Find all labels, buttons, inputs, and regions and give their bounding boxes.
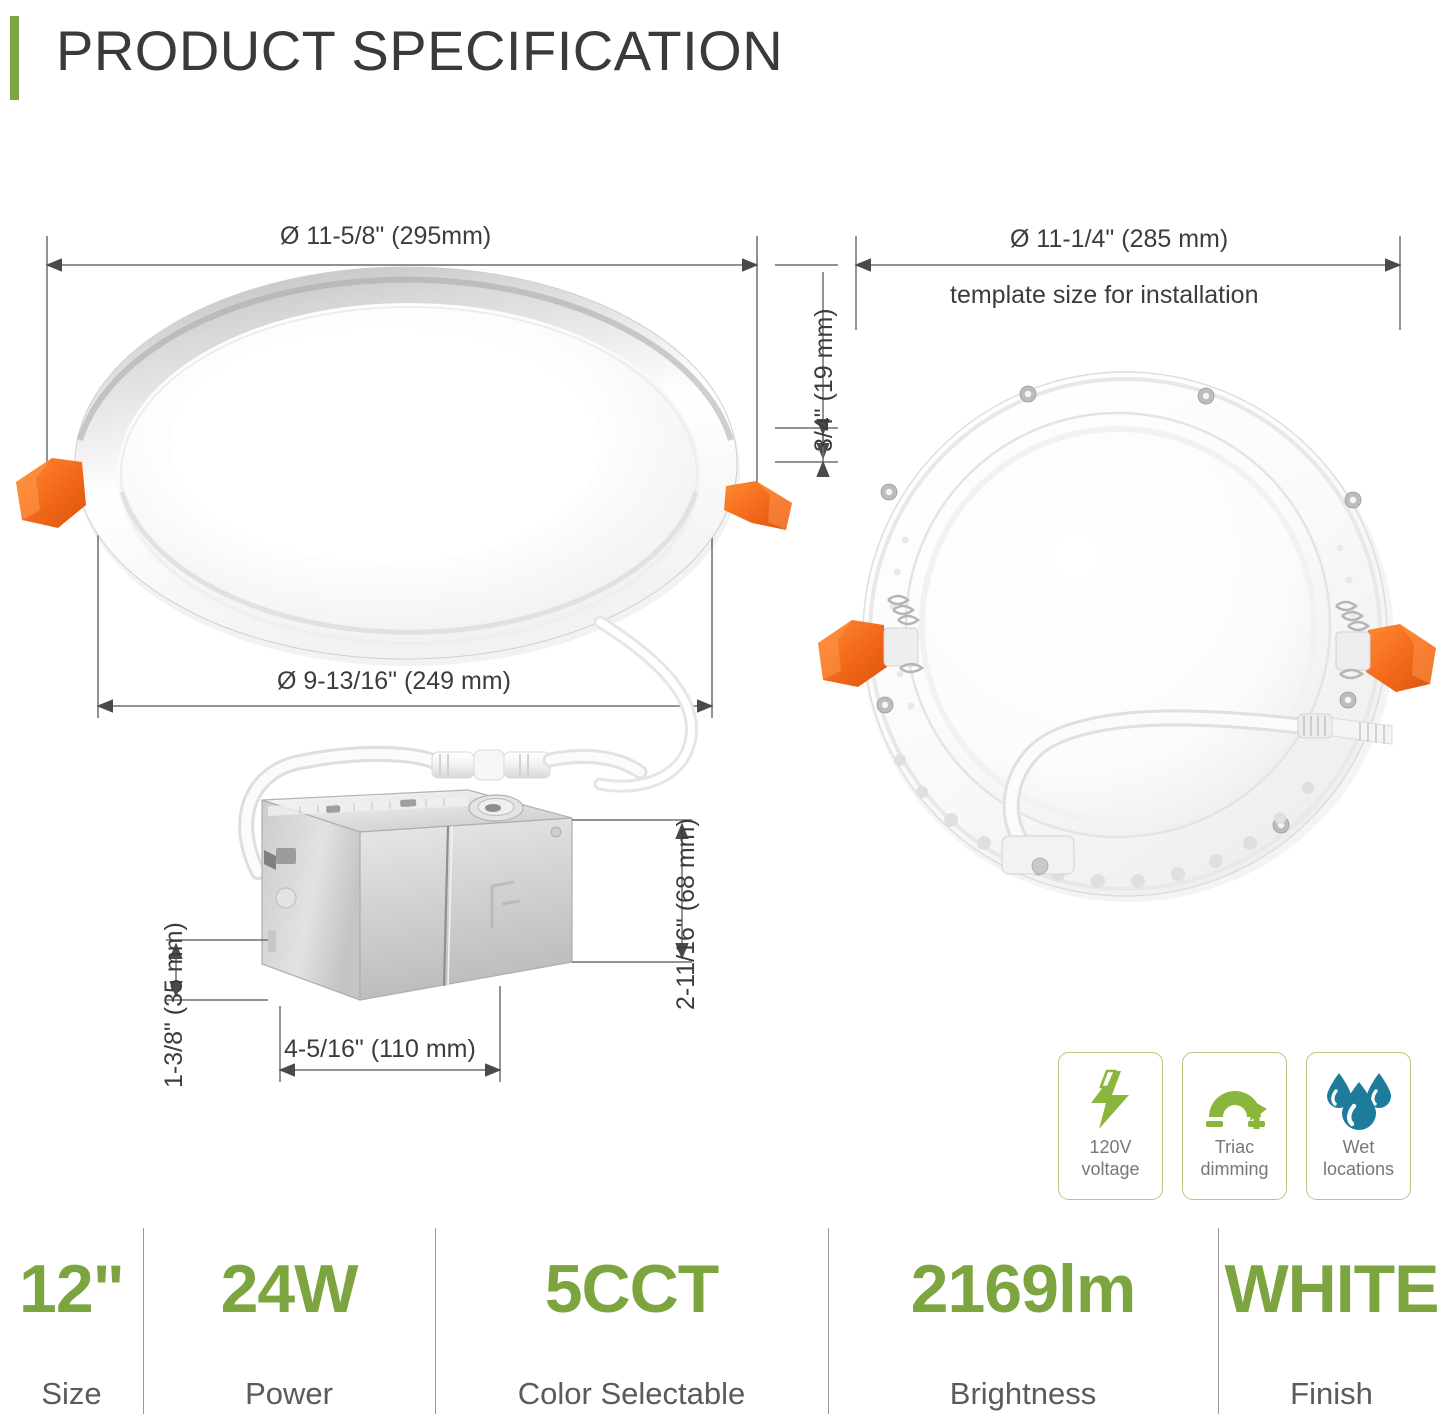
badge-wet-line1: Wet bbox=[1343, 1137, 1375, 1157]
feature-badges: 120V voltage Triac dimming bbox=[1058, 1052, 1411, 1200]
badge-wet-locations[interactable]: Wet locations bbox=[1306, 1052, 1411, 1200]
front-thickness-label: 3/4" (19 mm) bbox=[810, 308, 839, 452]
spec-power: 24W Power bbox=[143, 1238, 435, 1424]
badge-triac-line1: Triac bbox=[1215, 1137, 1254, 1157]
spec-summary-bar: 12" Size 24W Power 5CCT Color Selectable… bbox=[0, 1238, 1445, 1424]
badge-120v-label: 120V voltage bbox=[1081, 1137, 1139, 1181]
badge-120v-voltage[interactable]: 120V voltage bbox=[1058, 1052, 1163, 1200]
front-outer-diameter-label: Ø 11-5/8" (295mm) bbox=[280, 222, 491, 251]
badge-wet-label: Wet locations bbox=[1323, 1137, 1394, 1181]
spec-power-value: 24W bbox=[221, 1250, 358, 1328]
template-diameter-label: Ø 11-1/4" (285 mm) bbox=[1010, 225, 1228, 254]
spring-clip-right bbox=[724, 481, 792, 530]
junction-box-width-label: 4-5/16" (110 mm) bbox=[284, 1035, 476, 1064]
junction-box-height-label: 1-3/8" (35 mm) bbox=[160, 922, 189, 1088]
badge-120v-line2: voltage bbox=[1081, 1159, 1139, 1179]
spec-cct: 5CCT Color Selectable bbox=[435, 1238, 828, 1424]
water-droplets-icon bbox=[1323, 1067, 1395, 1133]
badge-triac-dimming[interactable]: Triac dimming bbox=[1182, 1052, 1287, 1200]
badge-wet-line2: locations bbox=[1323, 1159, 1394, 1179]
dimmer-arc-icon bbox=[1203, 1067, 1267, 1133]
spec-brightness: 2169lm Brightness bbox=[828, 1238, 1218, 1424]
badge-triac-label: Triac dimming bbox=[1200, 1137, 1268, 1181]
spec-finish-label: Finish bbox=[1290, 1376, 1373, 1412]
spec-size: 12" Size bbox=[0, 1238, 143, 1424]
spec-power-label: Power bbox=[245, 1376, 333, 1412]
template-note-label: template size for installation bbox=[950, 281, 1258, 310]
junction-box-depth-label: 2-11/16" (68 mm) bbox=[672, 818, 701, 1010]
spring-clip-left bbox=[16, 458, 86, 528]
lightning-bolt-icon bbox=[1085, 1067, 1137, 1133]
spec-brightness-value: 2169lm bbox=[911, 1250, 1136, 1328]
spec-brightness-label: Brightness bbox=[950, 1376, 1096, 1412]
spec-size-value: 12" bbox=[19, 1250, 124, 1328]
spec-cct-value: 5CCT bbox=[545, 1250, 719, 1328]
front-aperture-diameter-label: Ø 9-13/16" (249 mm) bbox=[277, 667, 511, 696]
spec-finish: WHITE Finish bbox=[1218, 1238, 1445, 1424]
product-specification-page: PRODUCT SPECIFICATION bbox=[0, 0, 1445, 1424]
spec-cct-label: Color Selectable bbox=[518, 1376, 745, 1412]
spec-finish-value: WHITE bbox=[1224, 1250, 1438, 1328]
front-panel-graphic bbox=[16, 267, 792, 786]
back-panel-graphic bbox=[818, 372, 1436, 902]
badge-triac-line2: dimming bbox=[1200, 1159, 1268, 1179]
badge-120v-line1: 120V bbox=[1089, 1137, 1131, 1157]
spec-size-label: Size bbox=[41, 1376, 101, 1412]
